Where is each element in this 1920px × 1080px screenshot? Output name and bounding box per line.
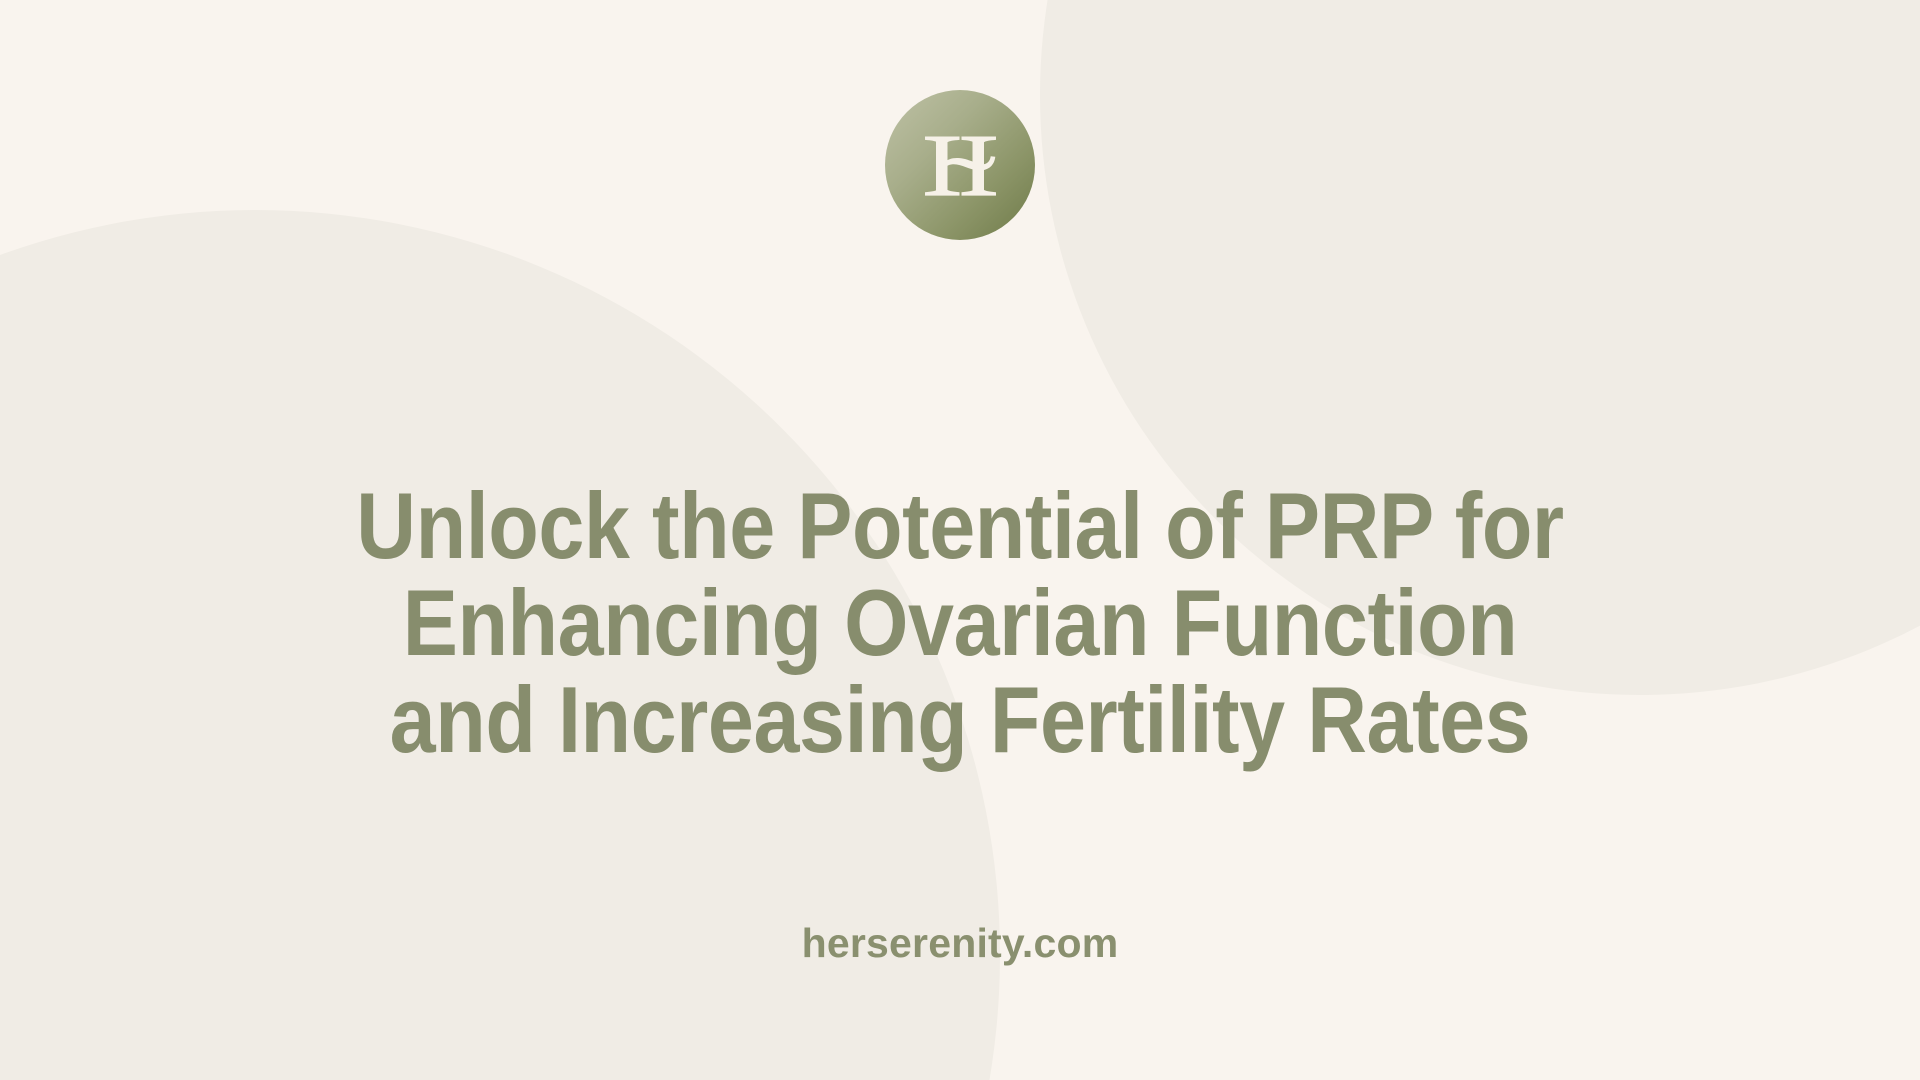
share-card-canvas: Unlock the Potential of PRP for Enhancin… <box>0 0 1920 1080</box>
hs-monogram-icon <box>885 90 1035 240</box>
site-url[interactable]: herserenity.com <box>0 920 1920 967</box>
page-title: Unlock the Potential of PRP for Enhancin… <box>180 478 1740 768</box>
page-title-line-3: and Increasing Fertility Rates <box>177 672 1743 769</box>
logo-circle-badge <box>885 90 1035 240</box>
page-title-inner: Unlock the Potential of PRP for Enhancin… <box>177 478 1743 768</box>
page-title-line-2: Enhancing Ovarian Function <box>177 575 1743 672</box>
page-title-line-1: Unlock the Potential of PRP for <box>177 478 1743 575</box>
brand-logo[interactable] <box>885 90 1035 240</box>
